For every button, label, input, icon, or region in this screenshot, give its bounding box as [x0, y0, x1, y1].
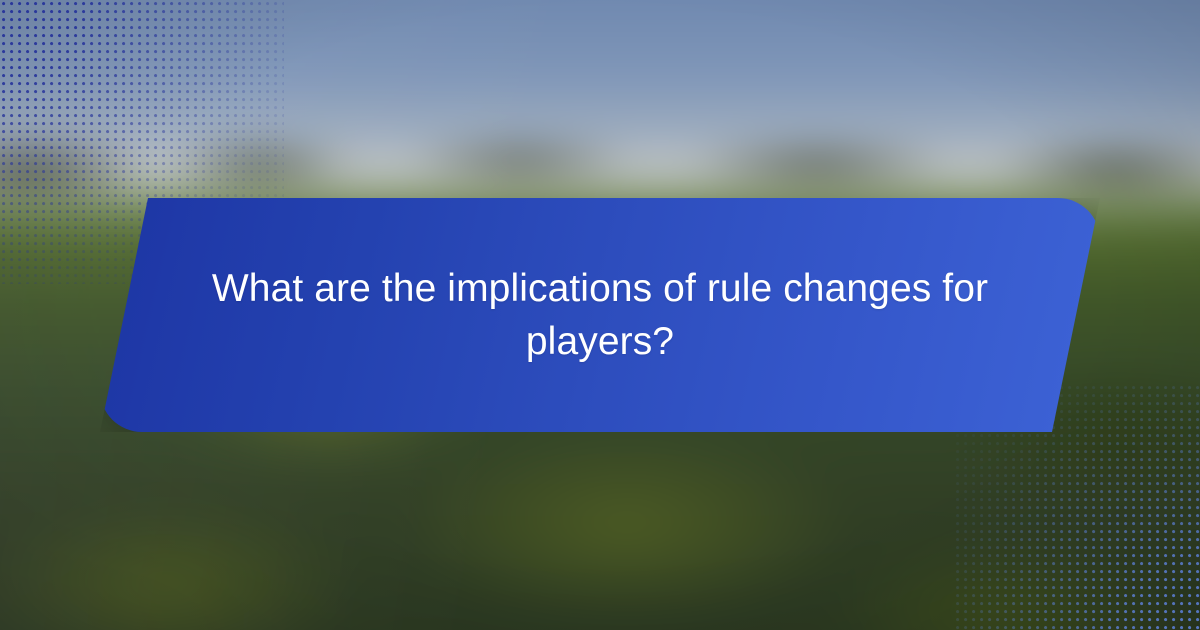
quote-text: What are the implications of rule change… — [205, 262, 995, 368]
quote-card: What are the implications of rule change… — [100, 198, 1100, 432]
quote-card-canvas: What are the implications of rule change… — [0, 0, 1200, 630]
